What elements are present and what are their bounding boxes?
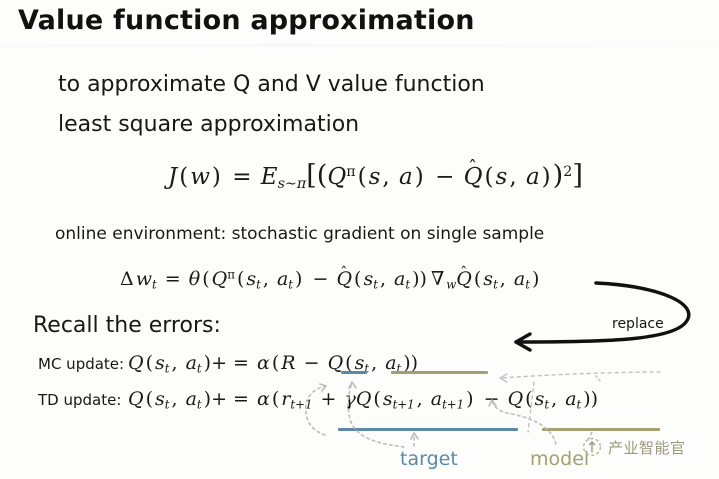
- watermark-logo-icon: [581, 436, 603, 458]
- watermark-text: 产业智能官: [608, 437, 686, 458]
- underline-mc-model: [391, 371, 488, 374]
- text-recall-errors: Recall the errors:: [33, 313, 221, 338]
- title-divider: [0, 44, 719, 47]
- underline-mc-target: [341, 371, 367, 374]
- label-td-update: TD update:: [38, 391, 121, 409]
- underline-td-target: [338, 428, 518, 431]
- callout-replace-label: replace: [612, 316, 664, 332]
- page-title: Value function approximation: [18, 5, 475, 36]
- slide-canvas: Value function approximation to approxim…: [0, 0, 719, 479]
- callout-target-label: target: [400, 448, 458, 470]
- replace-arrow-head-icon: [516, 334, 530, 350]
- equation-gradient-text: Δwt = θ(Qπ(st, at) − ˆQ(st, at))∇wˆQ(st,…: [118, 268, 541, 290]
- mc-model-leader-dotted-icon: [500, 372, 660, 378]
- target-leader-td-arrowhead-icon: [411, 433, 418, 439]
- text-online-environment: online environment: stochastic gradient …: [55, 224, 544, 244]
- underline-td-model: [542, 428, 660, 431]
- td-model-tick-dotted-icon: [596, 376, 600, 381]
- equation-mc-update: Q(st, at)+ = α(R − Q(st, at)): [128, 352, 420, 375]
- equation-td-update: Q(st, at)+ = α(rt+1 + γQ(st+1, at+1) − Q…: [128, 388, 600, 411]
- replace-arrow-icon: [516, 283, 689, 342]
- mc-model-leader-arrowhead-icon: [500, 374, 507, 382]
- equation-gradient: Δwt = θ(Qπ(st, at) − ˆQ(st, at))∇wˆQ(st,…: [118, 268, 541, 292]
- equation-mc-update-text: Q(st, at)+ = α(R − Q(st, at)): [128, 352, 420, 374]
- text-least-square-line: least square approximation: [58, 112, 359, 137]
- text-approximate-line: to approximate Q and V value function: [58, 72, 485, 97]
- equation-td-update-text: Q(st, at)+ = α(rt+1 + γQ(st+1, at+1) − Q…: [128, 388, 600, 410]
- label-mc-update: MC update:: [38, 355, 124, 373]
- equation-objective: J(w) = Es∼π[(Qπ(s, a) − ˆQ(s, a))2]: [168, 160, 583, 192]
- equation-objective-text: J(w) = Es∼π[(Qπ(s, a) − ˆQ(s, a))2]: [168, 164, 583, 190]
